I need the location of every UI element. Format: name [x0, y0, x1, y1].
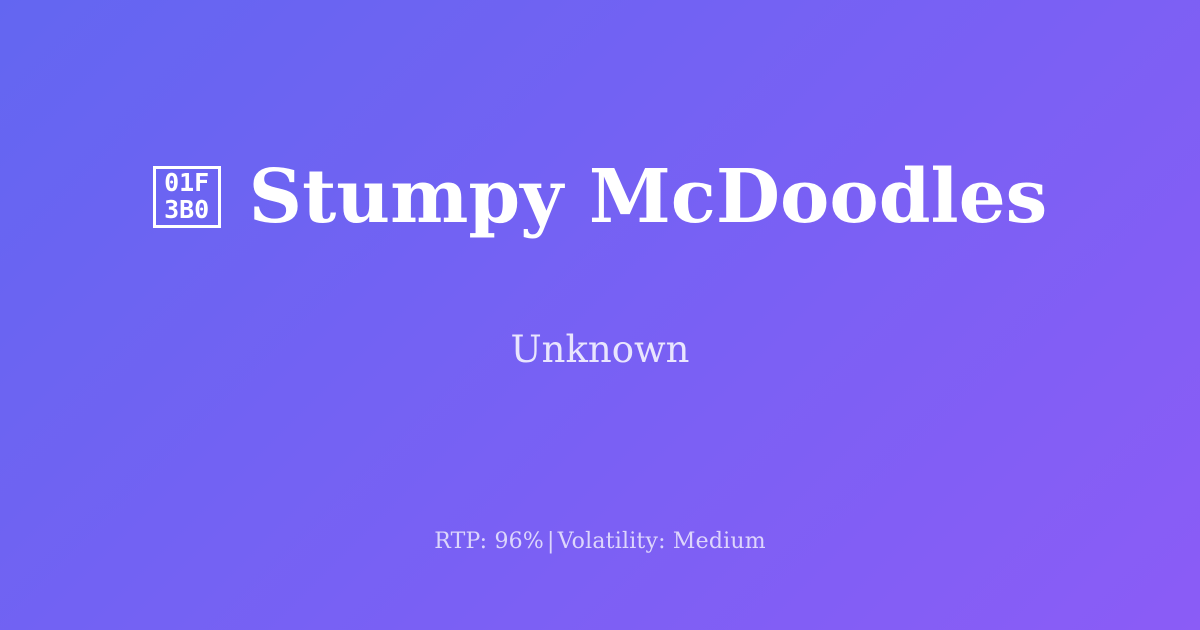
game-title: Stumpy McDoodles — [249, 158, 1048, 236]
title-row: 01F 3B0 Stumpy McDoodles — [153, 108, 1048, 286]
game-stats-line: RTP: 96%|Volatility: Medium — [434, 528, 766, 556]
game-provider: Unknown — [510, 328, 689, 372]
tofu-codepoint-top: 01F — [164, 170, 209, 197]
card-footer: RTP: 96%|Volatility: Medium — [0, 528, 1200, 556]
rtp-value: RTP: 96% — [434, 529, 544, 554]
stats-separator: | — [544, 529, 558, 554]
game-share-card: 01F 3B0 Stumpy McDoodles Unknown RTP: 96… — [0, 0, 1200, 630]
card-content: 01F 3B0 Stumpy McDoodles Unknown — [0, 0, 1200, 480]
tofu-codepoint-bottom: 3B0 — [164, 197, 209, 224]
volatility-value: Volatility: Medium — [558, 529, 766, 554]
slot-machine-emoji-icon: 01F 3B0 — [153, 166, 221, 228]
